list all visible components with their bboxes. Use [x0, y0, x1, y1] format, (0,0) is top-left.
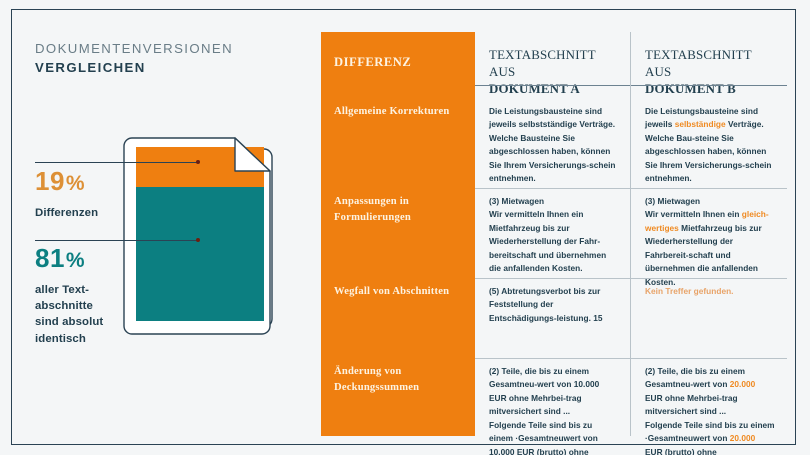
row-label-text: Allgemeine Korrekturen: [334, 104, 467, 120]
left-summary-panel: DOKUMENTENVERSIONEN VERGLEICHEN: [12, 10, 322, 446]
header-differenz-label: DIFFERENZ: [334, 55, 467, 70]
header-dokument-a-line1: TEXTABSCHNITT AUS: [489, 48, 596, 79]
column-dokument-a: TEXTABSCHNITT AUS DOKUMENT A Die Leistun…: [475, 32, 631, 436]
row-divider-b-1: [631, 188, 787, 189]
row-divider-b-2: [631, 278, 787, 279]
cell-text: (2) Teile, die bis zu einem Gesamtneu-we…: [489, 365, 618, 455]
cell-text: (3) MietwagenWir vermitteln Ihnen ein gl…: [645, 195, 775, 289]
infographic-page: DOKUMENTENVERSIONEN VERGLEICHEN: [0, 0, 810, 455]
row-label-2: Wegfall von Abschnitten: [321, 284, 475, 300]
stat-differenzen-label: Differenzen: [35, 205, 98, 221]
row-divider-b-3: [631, 358, 787, 359]
cell-b-0: Die Leistungsbausteine sind jeweils selb…: [631, 105, 787, 186]
page-title-line2: VERGLEICHEN: [35, 58, 233, 77]
row-label-text: Wegfall von Abschnitten: [334, 284, 467, 300]
row-label-1: Anpassungen inFormulierungen: [321, 194, 475, 226]
header-divider-a: [475, 85, 630, 86]
header-differenz: DIFFERENZ: [321, 55, 475, 70]
page-title: DOKUMENTENVERSIONEN VERGLEICHEN: [35, 39, 233, 77]
leader-line-differenzen: [35, 162, 198, 163]
cell-text: Kein Treffer gefunden.: [645, 285, 775, 298]
header-dokument-b: TEXTABSCHNITT AUS DOKUMENT B: [631, 47, 787, 98]
cell-a-2: (5) Abtretungsverbot bis zur Feststellun…: [475, 285, 630, 325]
row-label-3: Änderung vonDeckungssummen: [321, 364, 475, 396]
page-frame: DOKUMENTENVERSIONEN VERGLEICHEN: [11, 9, 796, 445]
row-divider-a-3: [475, 358, 630, 359]
column-dokument-b: TEXTABSCHNITT AUS DOKUMENT B Die Leistun…: [631, 32, 787, 436]
row-divider-a-1: [475, 188, 630, 189]
cell-a-3: (2) Teile, die bis zu einem Gesamtneu-we…: [475, 365, 630, 455]
column-differenz: DIFFERENZ Allgemeine KorrekturenAnpassun…: [321, 32, 475, 436]
leader-line-identisch: [35, 240, 198, 241]
stat-differenzen: 19% Differenzen: [35, 168, 98, 221]
stat-identisch-value: 81%: [35, 245, 103, 271]
comparison-table: DIFFERENZ Allgemeine KorrekturenAnpassun…: [321, 32, 787, 436]
cell-text: (5) Abtretungsverbot bis zur Feststellun…: [489, 285, 618, 325]
header-divider-b: [631, 85, 787, 86]
header-dokument-a: TEXTABSCHNITT AUS DOKUMENT A: [475, 47, 630, 98]
cell-a-0: Die Leistungsbausteine sind jeweils selb…: [475, 105, 630, 186]
row-label-0: Allgemeine Korrekturen: [321, 104, 475, 120]
cell-text: (3) MietwagenWir vermitteln Ihnen ein Mi…: [489, 195, 618, 276]
cell-b-1: (3) MietwagenWir vermitteln Ihnen ein gl…: [631, 195, 787, 289]
row-label-text: Anpassungen inFormulierungen: [334, 194, 467, 226]
cell-a-1: (3) MietwagenWir vermitteln Ihnen ein Mi…: [475, 195, 630, 276]
stat-differenzen-value: 19%: [35, 168, 98, 194]
header-dokument-b-line1: TEXTABSCHNITT AUS: [645, 48, 752, 79]
cell-text: Die Leistungsbausteine sind jeweils selb…: [489, 105, 618, 186]
stat-identisch-label: aller Text- abschnitte sind absolut iden…: [35, 282, 103, 347]
row-label-text: Änderung vonDeckungssummen: [334, 364, 467, 396]
cell-b-2: Kein Treffer gefunden.: [631, 285, 787, 298]
cell-text: Die Leistungsbausteine sind jeweils selb…: [645, 105, 775, 186]
cell-b-3: (2) Teile, die bis zu einem Gesamtneu-we…: [631, 365, 787, 455]
row-divider-a-2: [475, 278, 630, 279]
page-title-line1: DOKUMENTENVERSIONEN: [35, 39, 233, 58]
cell-text: (2) Teile, die bis zu einem Gesamtneu-we…: [645, 365, 775, 455]
stat-identisch: 81% aller Text- abschnitte sind absolut …: [35, 245, 103, 347]
